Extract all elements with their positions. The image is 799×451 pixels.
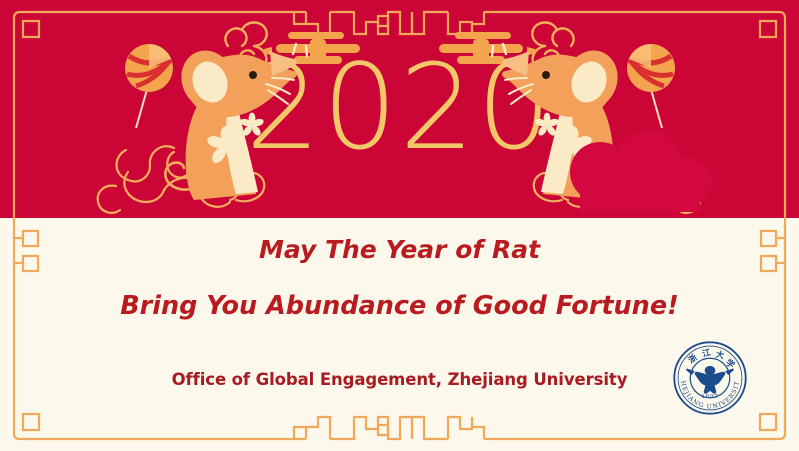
corner-square-bottom-left: [23, 414, 39, 430]
meander-bottom-icon: [294, 417, 493, 439]
lantern-ball-left-icon: [125, 44, 173, 128]
rat-left-icon: [165, 42, 307, 200]
svg-text:江: 江: [701, 347, 712, 359]
greeting-line-2: Bring You Abundance of Good Fortune!: [0, 292, 799, 320]
red-banner: 2020: [0, 0, 799, 218]
corner-square-bottom-right: [760, 414, 776, 430]
banner-foreground-art: [0, 0, 799, 218]
credit-text: Office of Global Engagement, Zhejiang Un…: [172, 370, 628, 389]
greeting-line-1: May The Year of Rat: [0, 236, 799, 264]
zhejiang-university-seal: 浙 江 大 学 1897 ZHEJIANG UNIVERSITY: [672, 340, 748, 416]
new-year-greeting-card: 2020: [0, 0, 799, 451]
seal-founding-year: 1897: [701, 394, 719, 400]
svg-text:大: 大: [715, 349, 726, 361]
lantern-ball-right-icon: [627, 44, 675, 128]
greeting-message: May The Year of Rat Bring You Abundance …: [0, 236, 799, 320]
